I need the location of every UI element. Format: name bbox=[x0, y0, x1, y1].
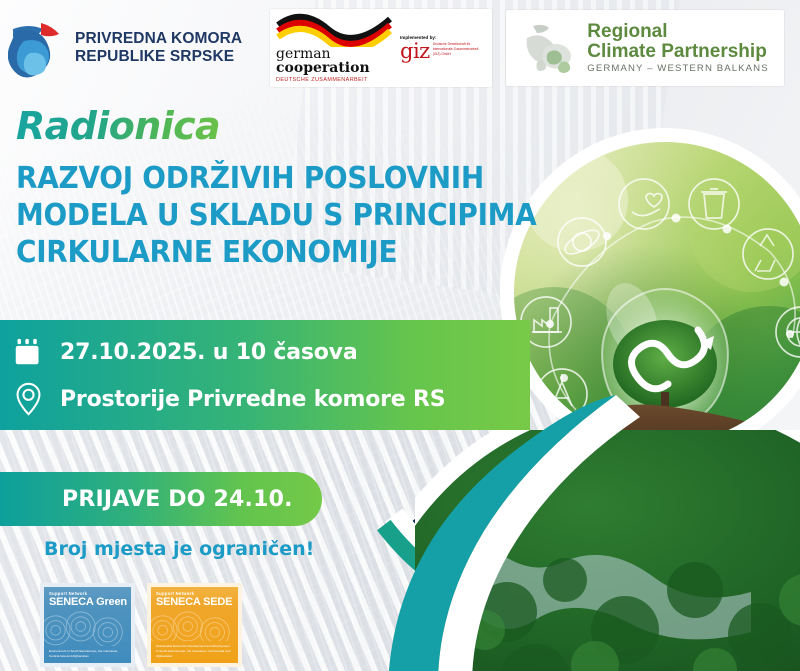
badge-seneca-green: Support Network SENECA Green Environment… bbox=[40, 583, 135, 667]
registration-deadline-pill[interactable]: PRIJAVE DO 24.10. bbox=[0, 472, 322, 526]
pkrs-wordmark: PRIVREDNA KOMORA REPUBLIKE SRPSKE bbox=[75, 30, 242, 66]
rcp-line-2: Climate Partnership bbox=[587, 42, 768, 62]
location-pin-icon bbox=[10, 380, 46, 418]
event-date-row: 27.10.2025. u 10 časova bbox=[10, 333, 357, 371]
kicker-radionica: Radionica bbox=[16, 104, 220, 148]
event-date-text: 27.10.2025. u 10 časova bbox=[60, 340, 357, 365]
event-location-text: Prostorije Privredne komore RS bbox=[60, 387, 445, 412]
pkrs-bird-icon bbox=[8, 17, 66, 79]
event-details-band: 27.10.2025. u 10 časova Prostorije Privr… bbox=[0, 320, 530, 430]
page-title: RAZVOJ ODRŽIVIH POSLOVNIH MODELA U SKLAD… bbox=[16, 160, 486, 272]
seneca-sede-caption: Sustainable Economic Development and Emp… bbox=[151, 641, 238, 663]
seneca-green-title: SENECA Green bbox=[44, 596, 131, 611]
logo-german-cooperation: german cooperation DEUTSCHE ZUSAMMENARBE… bbox=[270, 9, 492, 87]
giz-full-name: Deutsche Gesellschaft für Internationale… bbox=[433, 42, 486, 57]
seneca-sede-title: SENECA SEDE bbox=[151, 596, 238, 611]
badge-seneca-sede: Support Network SENECA SEDE Sustainable … bbox=[147, 583, 242, 667]
rcp-line-3: GERMANY – WESTERN BALKANS bbox=[587, 64, 768, 74]
seneca-green-rings-pattern bbox=[44, 611, 131, 646]
headline-line-2: MODELA U SKLADU S PRINCIPIMA bbox=[16, 197, 453, 234]
teal-swoosh bbox=[380, 395, 640, 671]
pkrs-line-2: REPUBLIKE SRPSKE bbox=[75, 48, 242, 66]
headline-line-3: CIRKULARNE EKONOMIJE bbox=[16, 234, 453, 271]
europe-map-icon bbox=[521, 18, 583, 78]
german-cooperation-word-2: cooperation bbox=[276, 61, 370, 75]
giz-wordmark: giz bbox=[400, 42, 430, 61]
german-cooperation-subtitle: DEUTSCHE ZUSAMMENARBEIT bbox=[276, 78, 370, 83]
rcp-line-1: Regional bbox=[587, 22, 768, 42]
german-flag-wave-icon bbox=[276, 13, 394, 47]
partner-badges: Support Network SENECA Green Environment… bbox=[40, 583, 242, 667]
german-cooperation-word-1: german bbox=[276, 47, 370, 61]
registration-deadline-label: PRIJAVE DO 24.10. bbox=[62, 487, 293, 512]
pkrs-line-1: PRIVREDNA KOMORA bbox=[75, 30, 242, 48]
seneca-green-caption: Environment in South East Europe, the Ca… bbox=[44, 646, 131, 663]
logo-regional-climate-partnership: Regional Climate Partnership GERMANY – W… bbox=[506, 10, 784, 86]
logo-privredna-komora: PRIVREDNA KOMORA REPUBLIKE SRPSKE bbox=[8, 17, 256, 79]
headline-line-1: RAZVOJ ODRŽIVIH POSLOVNIH bbox=[16, 160, 453, 197]
limited-seats-note: Broj mjesta je ograničen! bbox=[44, 538, 314, 560]
logo-header: PRIVREDNA KOMORA REPUBLIKE SRPSKE german… bbox=[0, 0, 800, 96]
event-location-row: Prostorije Privredne komore RS bbox=[10, 380, 445, 418]
calendar-icon bbox=[10, 333, 46, 371]
seneca-sede-rings-pattern bbox=[151, 611, 238, 641]
poster-canvas: PRIVREDNA KOMORA REPUBLIKE SRPSKE german… bbox=[0, 0, 800, 671]
seneca-sede-eyebrow: Support Network bbox=[151, 587, 238, 596]
seneca-green-eyebrow: Support Network bbox=[44, 587, 131, 596]
